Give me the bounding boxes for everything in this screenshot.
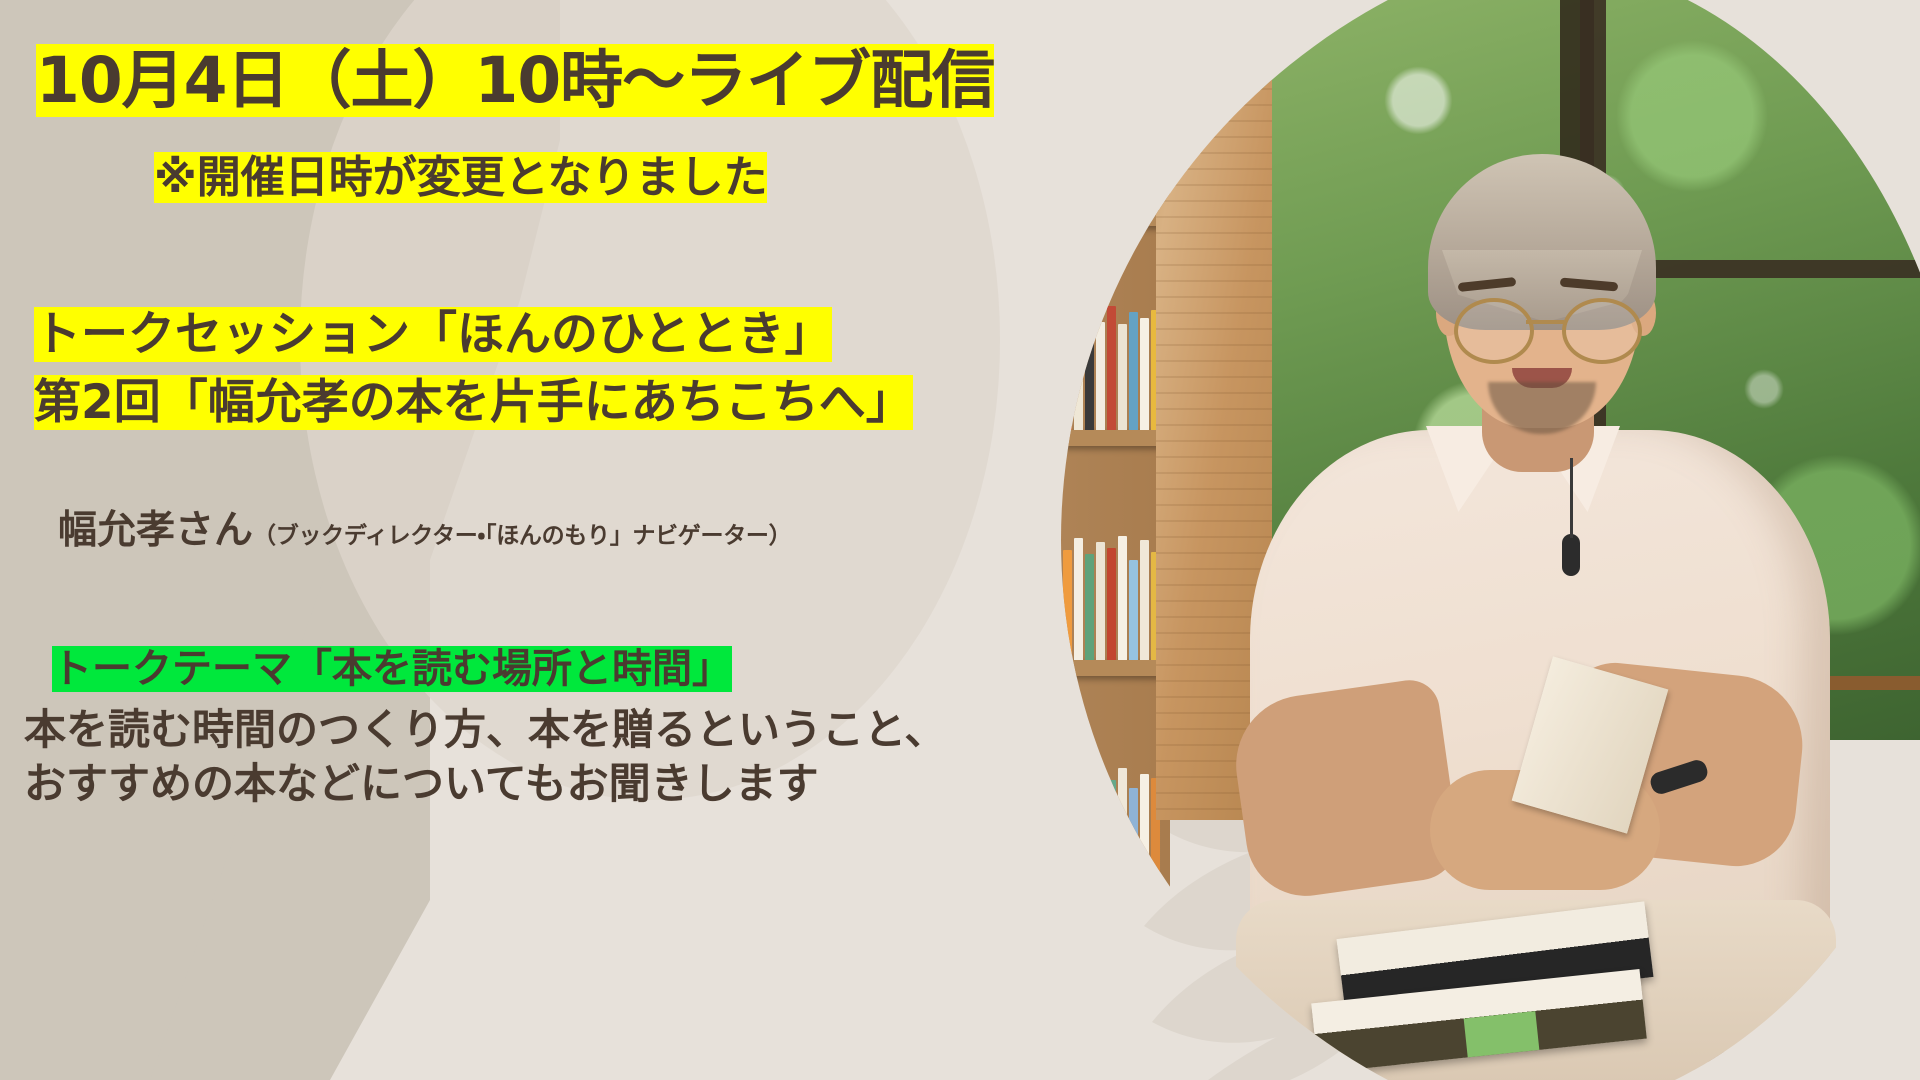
- series-title-line2-text: 第2回「幅允孝の本を片手にあちこちへ」: [34, 375, 913, 430]
- speaker-line: 幅允孝さん（ブックディレクター・「ほんのもり」ナビゲーター）: [58, 511, 791, 550]
- series-title-line1: トークセッション「ほんのひととき」: [26, 303, 842, 369]
- speaker-role: （ブックディレクター・「ほんのもり」ナビゲーター）: [253, 523, 791, 549]
- lapel-microphone-icon: [1562, 534, 1580, 576]
- schedule-change-notice: ※開催日時が変更となりました: [146, 148, 777, 212]
- talk-theme: トークテーマ「本を読む場所と時間」: [46, 641, 740, 700]
- speaker-name: 幅允孝さん: [58, 508, 253, 553]
- person-figure: [1230, 130, 1850, 1040]
- description-line1: 本を読む時間のつくり方、本を贈るということ、: [24, 709, 946, 751]
- talk-theme-text: トークテーマ「本を読む場所と時間」: [52, 646, 732, 692]
- series-title-line2: 第2回「幅允孝の本を片手にあちこちへ」: [26, 371, 923, 437]
- bookshelf: [960, 0, 1170, 1040]
- series-title-line1-text: トークセッション「ほんのひととき」: [34, 307, 832, 362]
- event-poster: 10月4日（土）10時〜ライブ配信 ※開催日時が変更となりました トークセッショ…: [0, 0, 1920, 1080]
- description-line2: おすすめの本などについてもお聞きします: [24, 763, 819, 805]
- eyeglasses-icon: [1450, 298, 1640, 356]
- date-banner-text: 10月4日（土）10時〜ライブ配信: [36, 44, 994, 117]
- speaker-photo: [960, 0, 1920, 1080]
- schedule-change-notice-text: ※開催日時が変更となりました: [154, 152, 767, 203]
- date-banner: 10月4日（土）10時〜ライブ配信: [28, 40, 1004, 126]
- arm-left: [1227, 676, 1463, 903]
